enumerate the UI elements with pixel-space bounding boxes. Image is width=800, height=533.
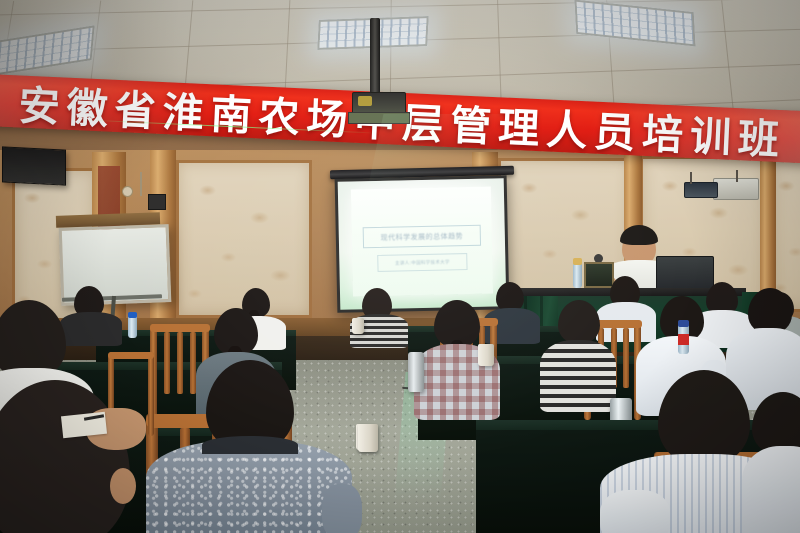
slide-title-text: 现代科学发展的总体趋势 [380,231,463,243]
audience-person-right-edge [742,392,800,533]
audience-arm [600,490,670,533]
presentation-slide: 现代科学发展的总体趋势 主讲人:中国科学技术大学 [351,186,493,296]
audience-ear [110,468,136,504]
audience-collar [202,436,298,454]
slide-title-box: 现代科学发展的总体趋势 [363,225,481,248]
audience-head [0,380,130,533]
audience-person-front-center [146,360,346,533]
audience-person-foreground-left [0,380,160,533]
wall-mounted-device [684,182,718,198]
presenter-hair [620,225,658,245]
audience-head [558,300,600,344]
slide-subtitle-text: 主讲人:中国科学技术大学 [395,259,450,266]
conference-room-photo: 现代科学发展的总体趋势 主讲人:中国科学技术大学 安徽省淮南农场中层管理人员培训… [0,0,800,533]
wall-bracket-2 [736,170,738,182]
audience-person-back-3 [350,288,408,344]
wall-bracket [690,172,692,184]
audience-head [658,370,750,466]
table-cup-front-right [358,424,378,452]
projector-beam [369,114,504,184]
table-cup-midright [478,344,494,366]
presenter-bottle [573,258,582,288]
projector-mount-pole [370,18,380,96]
table-bottle-back [128,312,137,338]
table-thermos-aisle-left [408,352,424,392]
slide-subtitle-box: 主讲人:中国科学技术大学 [378,253,468,272]
wall-speaker [2,146,66,185]
audience-torso [742,446,800,533]
audience-arm [322,484,362,533]
wall-fixture-conduit [140,172,142,196]
table-cup-back [352,318,364,334]
wall-fixture-box [148,194,166,210]
projector-lens [358,96,372,106]
wall-fixture-knob [122,186,133,197]
table-bottle-midright [678,320,689,354]
